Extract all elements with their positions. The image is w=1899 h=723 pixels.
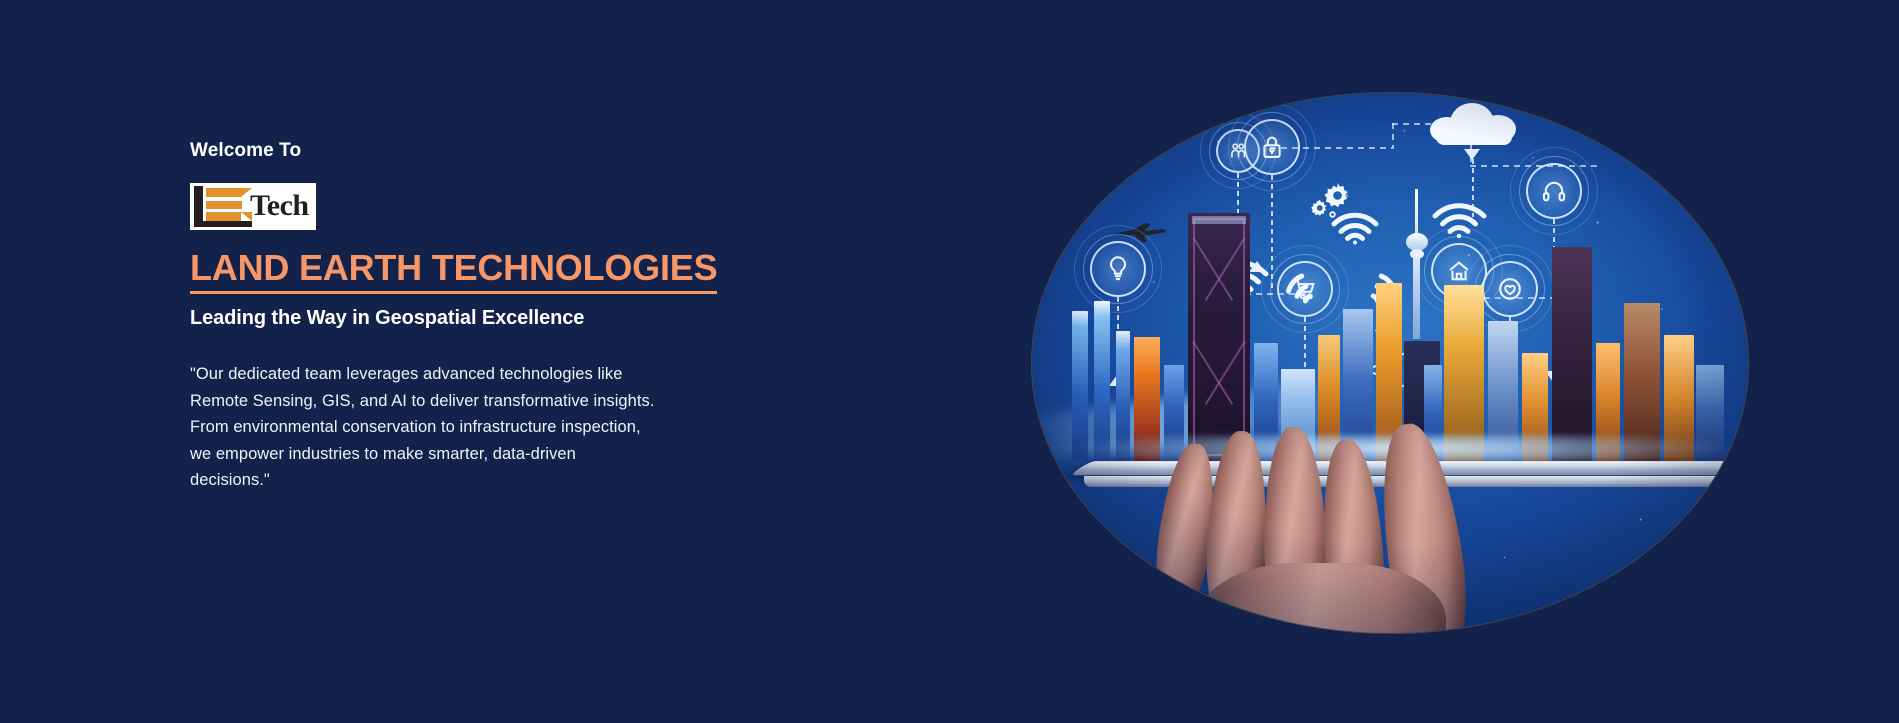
page-title: LAND EARTH TECHNOLOGIES xyxy=(190,247,717,294)
logo-bar-middle xyxy=(206,201,242,209)
lock-icon xyxy=(1244,119,1300,175)
hero-description: "Our dedicated team leverages advanced t… xyxy=(190,361,660,494)
hero-text-column: Welcome To Tech LAND EARTH TECHNOLOGIES … xyxy=(190,140,810,494)
hero-section: Welcome To Tech LAND EARTH TECHNOLOGIES … xyxy=(0,0,1899,723)
logo-bar-top xyxy=(206,188,252,197)
logo-bar-bottom xyxy=(206,212,252,221)
cloud-icon xyxy=(1430,103,1516,143)
land-earth-technologies-logo[interactable]: Tech xyxy=(190,183,316,230)
welcome-label: Welcome To xyxy=(190,140,810,162)
page-subtitle: Leading the Way in Geospatial Excellence xyxy=(190,307,810,330)
smart-city-hero-image xyxy=(1032,93,1748,633)
logo-l-foot xyxy=(194,221,252,227)
logo-wordmark: Tech xyxy=(250,191,309,221)
broadcast-tower-icon xyxy=(1404,189,1430,339)
logo-e-mark-icon xyxy=(194,186,254,227)
hand-holding-tablet xyxy=(1152,413,1592,633)
